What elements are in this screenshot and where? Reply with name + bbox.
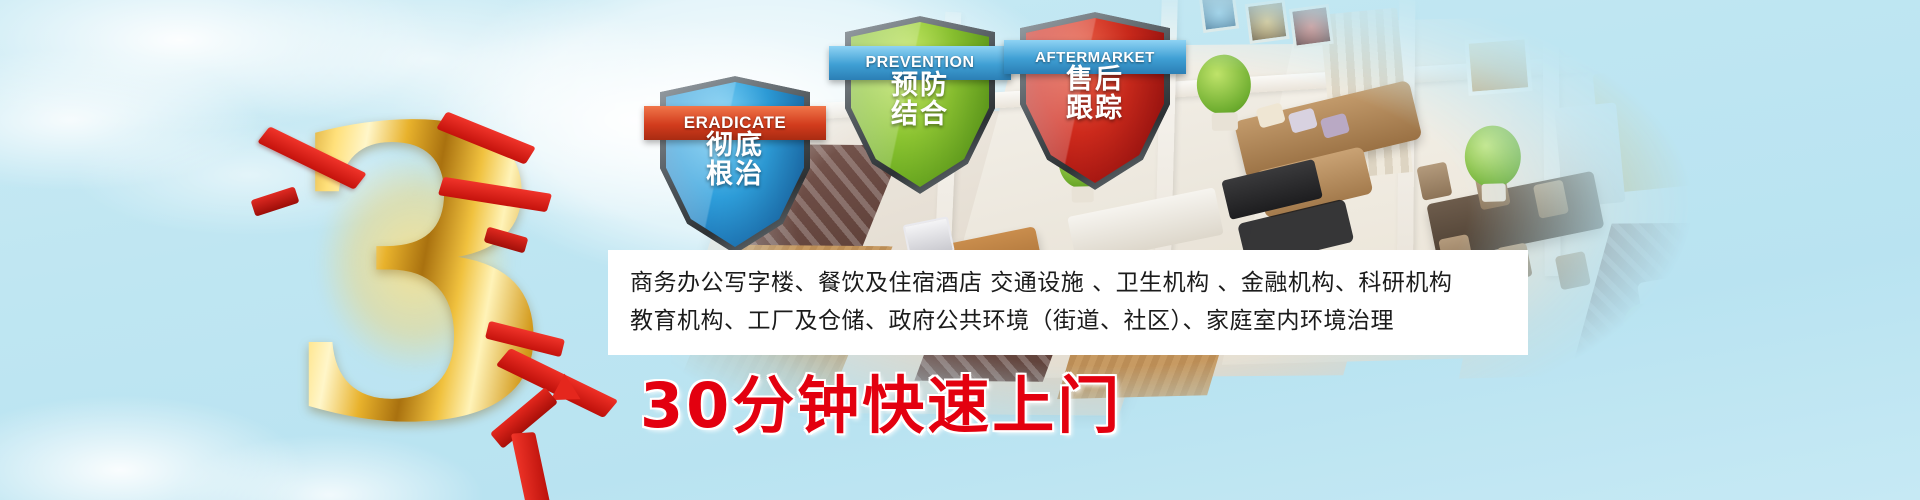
shield-badge-prevention: PREVENTION 预防 结合 bbox=[845, 16, 995, 194]
shield-cn-text: 售后 跟踪 bbox=[1020, 66, 1170, 123]
shield-cn-line2: 跟踪 bbox=[1020, 95, 1170, 124]
shield-cn-line2: 结合 bbox=[845, 101, 995, 130]
dining-chair bbox=[1416, 162, 1452, 201]
wall-art bbox=[1289, 4, 1334, 49]
framed-painting bbox=[1464, 35, 1532, 96]
shield-badge-aftermarket: AFTERMARKET 售后 跟踪 bbox=[1020, 12, 1170, 190]
shield-cn-line2: 根治 bbox=[660, 161, 810, 190]
service-scope-line-1: 商务办公写字楼、餐饮及住宿酒店 交通设施 、卫生机构 、金融机构、科研机构 bbox=[630, 265, 1528, 302]
plant-pot bbox=[1482, 183, 1506, 202]
dining-chair bbox=[1555, 251, 1591, 290]
shield-cn-text: 彻底 根治 bbox=[660, 132, 810, 189]
headline-text: 30分钟快速上门 bbox=[640, 355, 1122, 445]
wall-art bbox=[1245, 0, 1290, 44]
shield-badge-eradicate: ERADICATE 彻底 根治 bbox=[660, 76, 810, 254]
service-scope-panel: 商务办公写字楼、餐饮及住宿酒店 交通设施 、卫生机构 、金融机构、科研机构 教育… bbox=[608, 250, 1528, 355]
shield-cn-line1: 售后 bbox=[1020, 66, 1170, 95]
dining-chair bbox=[1533, 180, 1569, 219]
service-scope-line-2: 教育机构、工厂及仓储、政府公共环境（街道、社区）、家庭室内环境治理 bbox=[630, 303, 1528, 340]
plant-pot bbox=[1636, 346, 1654, 359]
shield-cn-line1: 彻底 bbox=[660, 132, 810, 161]
shield-cn-line1: 预防 bbox=[845, 72, 995, 101]
promo-banner: 3 ERADICATE 彻底 根治 PREVENTION 预防 结合 bbox=[0, 0, 1920, 500]
wall-art bbox=[1199, 0, 1239, 33]
shield-cn-text: 预防 结合 bbox=[845, 72, 995, 129]
plant-pot bbox=[1212, 112, 1238, 131]
